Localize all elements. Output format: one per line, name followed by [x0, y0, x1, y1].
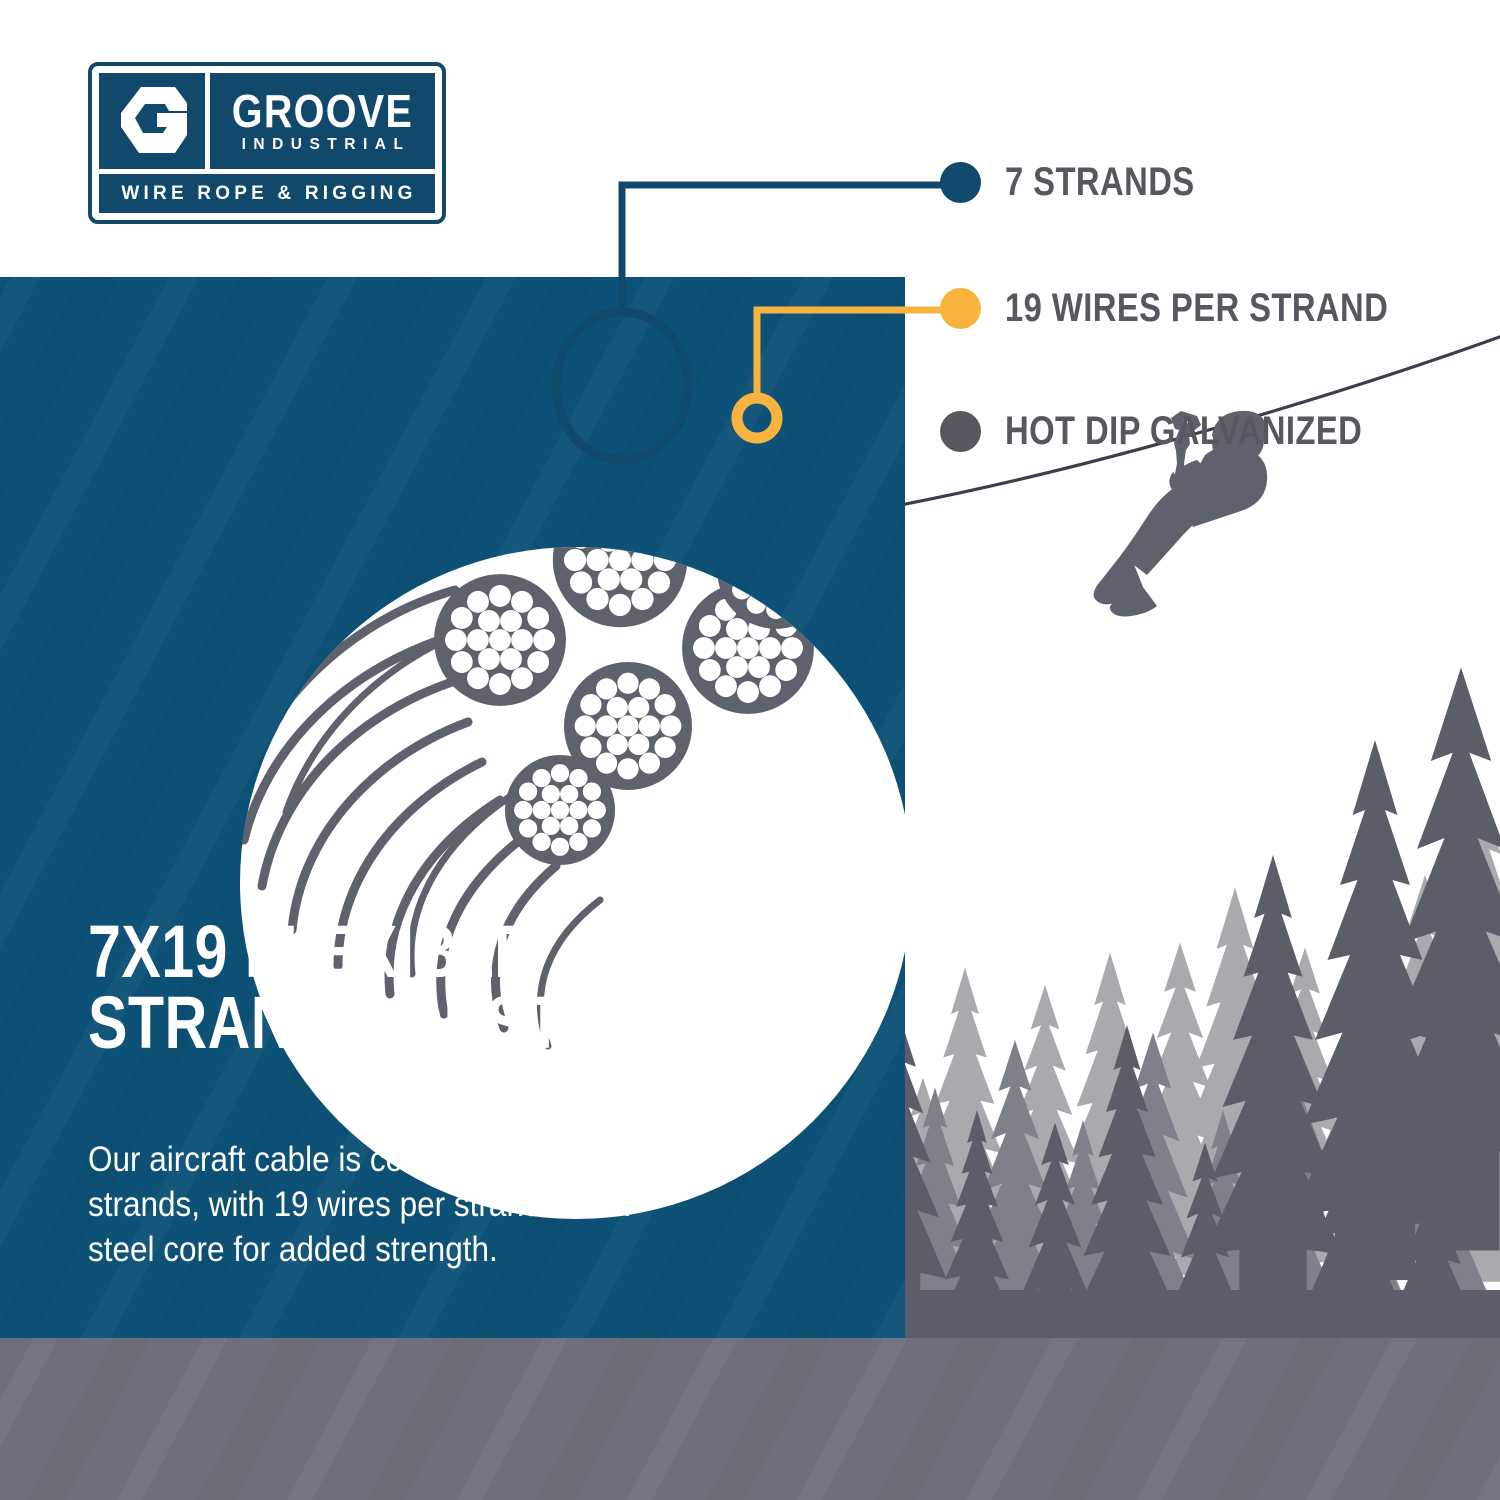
callout-label-strands: 7 STRANDS	[1005, 160, 1195, 205]
body-line-3: steel core for added strength.	[88, 1228, 709, 1273]
headline-line-1: 7X19 FLEXIBLE	[88, 916, 720, 987]
strand-highlight-ring	[556, 312, 688, 460]
body-line-1: Our aircraft cable is constructed of 7	[88, 1138, 709, 1183]
body-description: Our aircraft cable is constructed of 7 s…	[88, 1138, 778, 1272]
callout-dot-galvanized	[940, 411, 981, 452]
strand-right-back	[717, 511, 835, 629]
brand-logo[interactable]: GROOVE INDUSTRIAL WIRE ROPE & RIGGING	[88, 62, 446, 224]
groove-g-icon	[99, 73, 205, 169]
infographic-canvas: GROOVE INDUSTRIAL WIRE ROPE & RIGGING 7 …	[0, 0, 1500, 1500]
brand-tagline-bar: WIRE ROPE & RIGGING	[99, 174, 435, 213]
callout-strands[interactable]: 7 STRANDS	[940, 160, 1236, 205]
callout-label-galvanized: HOT DIP GALVANIZED	[1005, 409, 1362, 454]
wire-rope-illustration	[0, 0, 1500, 1500]
connector-line-strands	[622, 185, 957, 316]
callout-wires[interactable]: 19 WIRES PER STRAND	[940, 286, 1472, 331]
brand-name-primary: GROOVE	[232, 90, 413, 132]
strand-core	[553, 493, 687, 627]
callout-label-wires: 19 WIRES PER STRAND	[1005, 286, 1388, 331]
brand-tagline: WIRE ROPE & RIGGING	[117, 183, 416, 205]
g-hexagon-glyph	[113, 85, 191, 157]
callout-galvanized[interactable]: HOT DIP GALVANIZED	[940, 409, 1441, 454]
headline-line-2: STRAND CONSTRUCTION	[88, 987, 720, 1058]
connector-line-wires	[757, 310, 957, 394]
strand-upper-left	[441, 405, 572, 536]
strand-top	[556, 322, 684, 450]
page-title: 7X19 FLEXIBLE STRAND CONSTRUCTION	[88, 916, 878, 1058]
callout-dot-strands	[940, 162, 981, 203]
callout-dot-wires	[940, 288, 981, 329]
single-wire-marker	[737, 398, 777, 438]
body-line-2: strands, with 19 wires per strand and a	[88, 1183, 709, 1228]
brand-name-secondary: INDUSTRIAL	[235, 137, 411, 153]
strand-bottom-back	[505, 755, 615, 865]
strand-lower-left	[434, 574, 566, 706]
